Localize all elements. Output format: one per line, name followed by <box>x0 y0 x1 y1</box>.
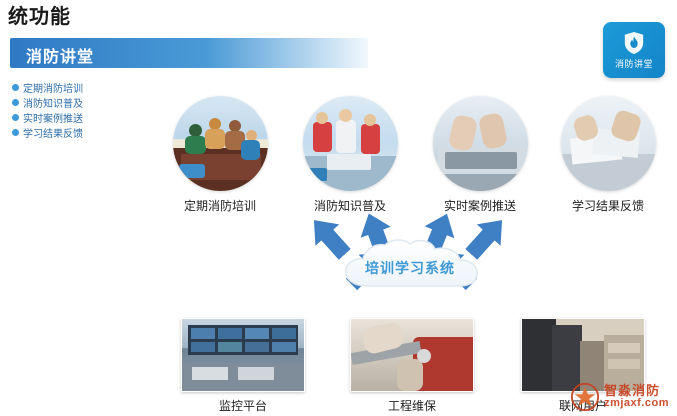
top-card-knowledge[interactable]: 消防知识普及 <box>295 96 405 214</box>
watermark-cn: 智淼消防 <box>604 384 669 398</box>
badge-fire-classroom[interactable]: 消防讲堂 <box>603 22 665 78</box>
watermark-en: zmjaxf.com <box>604 398 669 410</box>
section-title: 消防讲堂 <box>26 43 94 67</box>
volunteers-outreach-photo <box>303 96 398 191</box>
top-card-cases[interactable]: 实时案例推送 <box>425 96 535 214</box>
watermark: 智淼消防 zmjaxf.com <box>570 382 669 412</box>
bullet-label: 定期消防培训 <box>23 80 83 95</box>
bottom-card-maintenance[interactable]: 工程维保 <box>347 318 477 414</box>
center-cloud: 培训学习系统 <box>330 238 490 298</box>
maintenance-worker-photo <box>350 318 474 392</box>
center-label: 培训学习系统 <box>330 258 490 278</box>
page-title: 统功能 <box>8 0 71 29</box>
top-card-training[interactable]: 定期消防培训 <box>165 96 275 214</box>
bottom-card-monitoring[interactable]: 监控平台 <box>178 318 308 414</box>
badge-label: 消防讲堂 <box>615 57 653 70</box>
list-item: 定期消防培训 <box>12 80 132 94</box>
networked-user-photo <box>521 318 645 392</box>
top-card-caption: 消防知识普及 <box>295 197 405 214</box>
bottom-card-caption: 监控平台 <box>178 397 308 414</box>
top-card-caption: 学习结果反馈 <box>553 197 663 214</box>
top-card-caption: 实时案例推送 <box>425 197 535 214</box>
section-header-bar: 消防讲堂 <box>10 38 368 68</box>
desk-documents-photo <box>561 96 656 191</box>
slide-page: 统功能 消防讲堂 消防讲堂 定期消防培训 消防知识普及 实时案例推送 学习结果反… <box>0 0 677 416</box>
shield-flame-icon <box>623 31 645 55</box>
classroom-training-photo <box>173 96 268 191</box>
bullet-dot-icon <box>12 84 19 91</box>
bottom-card-caption: 工程维保 <box>347 397 477 414</box>
top-card-row: 定期消防培训 消防知识普及 <box>0 96 677 216</box>
laptop-typing-photo <box>433 96 528 191</box>
top-card-caption: 定期消防培训 <box>165 197 275 214</box>
top-card-feedback[interactable]: 学习结果反馈 <box>553 96 663 214</box>
monitoring-control-room-photo <box>181 318 305 392</box>
watermark-logo-icon <box>570 382 600 412</box>
